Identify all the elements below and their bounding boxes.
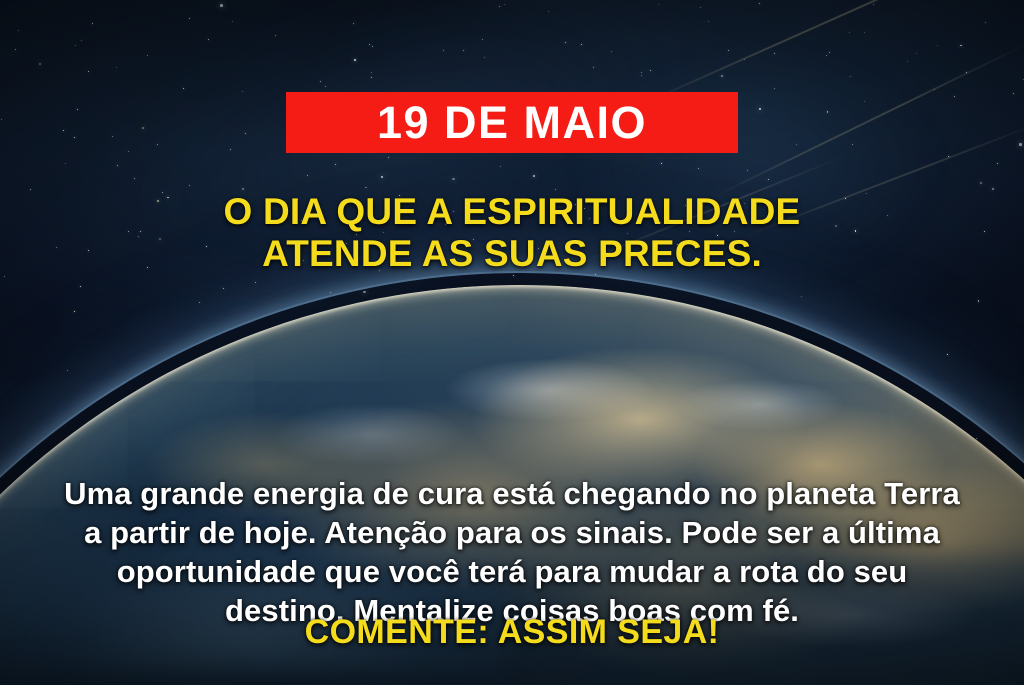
- page-title: O DIA QUE A ESPIRITUALIDADE ATENDE AS SU…: [0, 191, 1024, 275]
- headline-line-2: ATENDE AS SUAS PRECES.: [0, 233, 1024, 275]
- date-banner: 19 DE MAIO: [286, 92, 738, 153]
- headline-line-1: O DIA QUE A ESPIRITUALIDADE: [0, 191, 1024, 233]
- poster-content: 19 DE MAIO O DIA QUE A ESPIRITUALIDADE A…: [0, 0, 1024, 685]
- call-to-action-label: COMENTE: ASSIM SEJA!: [0, 614, 1024, 651]
- poster-canvas: 19 DE MAIO O DIA QUE A ESPIRITUALIDADE A…: [0, 0, 1024, 685]
- date-banner-label: 19 DE MAIO: [377, 100, 647, 145]
- body-paragraph: Uma grande energia de cura está chegando…: [0, 474, 1024, 630]
